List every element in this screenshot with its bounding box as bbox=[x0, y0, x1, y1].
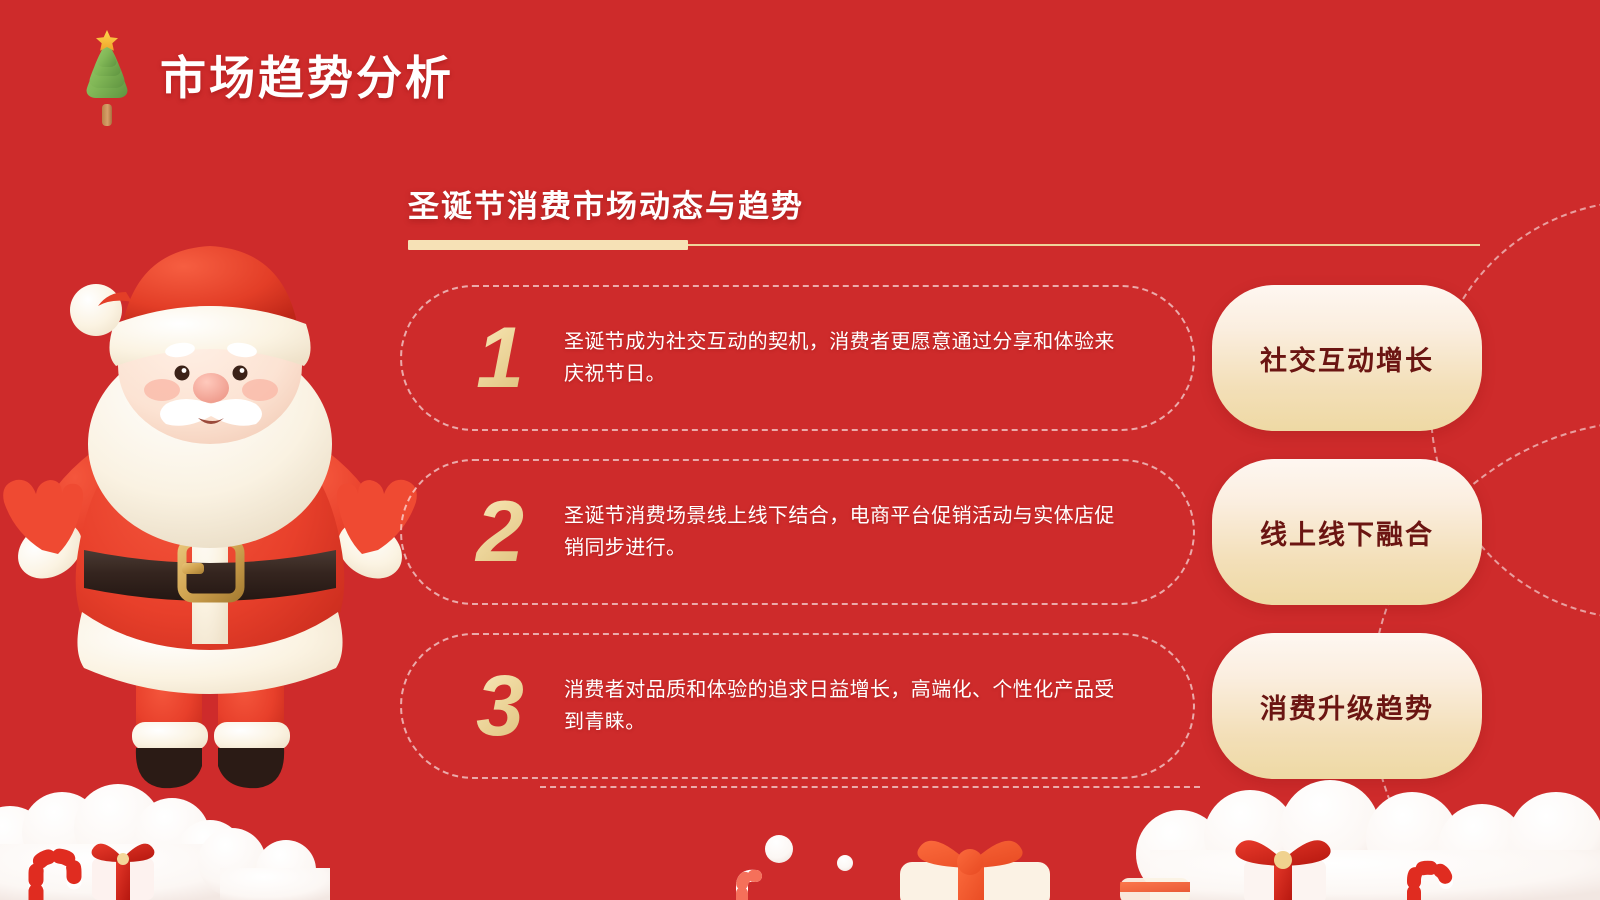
trend-card[interactable]: 3 消费者对品质和体验的追求日益增长，高端化、个性化产品受到青睐。 bbox=[400, 633, 1195, 779]
item-description: 圣诞节成为社交互动的契机，消费者更愿意通过分享和体验来庆祝节日。 bbox=[564, 326, 1124, 391]
dashed-line-decoration bbox=[540, 786, 1200, 788]
slide-header: 市场趋势分析 bbox=[76, 26, 454, 130]
gift-wrap-far-right bbox=[1120, 878, 1190, 900]
candy-cane-right bbox=[1414, 868, 1446, 900]
status-badge[interactable]: 线上线下融合 bbox=[1212, 459, 1482, 605]
list-item: 3 消费者对品质和体验的追求日益增长，高端化、个性化产品受到青睐。 消费升级趋势 bbox=[400, 633, 1490, 779]
snow-cloud-left bbox=[0, 784, 244, 900]
item-number: 1 bbox=[454, 315, 546, 401]
gift-box-right bbox=[1235, 840, 1330, 900]
snow-cloud-mid bbox=[198, 828, 330, 900]
item-number: 2 bbox=[454, 489, 546, 575]
page-title: 市场趋势分析 bbox=[160, 55, 454, 101]
snowball bbox=[837, 855, 853, 871]
trend-items-list: 1 圣诞节成为社交互动的契机，消费者更愿意通过分享和体验来庆祝节日。 社交互动增… bbox=[400, 285, 1490, 807]
badge-label: 线上线下融合 bbox=[1260, 513, 1434, 552]
candy-cane-left bbox=[36, 856, 74, 900]
badge-label: 社交互动增长 bbox=[1260, 339, 1434, 378]
status-badge[interactable]: 消费升级趋势 bbox=[1212, 633, 1482, 779]
item-number: 3 bbox=[454, 663, 546, 749]
candy-cane-center bbox=[742, 876, 756, 900]
item-description: 圣诞节消费场景线上线下结合，电商平台促销活动与实体店促销同步进行。 bbox=[564, 500, 1124, 565]
section-divider bbox=[408, 240, 1480, 250]
slide-root: 市场趋势分析 圣诞节消费市场动态与趋势 bbox=[0, 0, 1600, 900]
list-item: 2 圣诞节消费场景线上线下结合，电商平台促销活动与实体店促销同步进行。 线上线下… bbox=[400, 459, 1490, 605]
badge-label: 消费升级趋势 bbox=[1260, 687, 1434, 726]
gift-box-center bbox=[900, 841, 1050, 900]
gift-box-left bbox=[92, 844, 155, 900]
christmas-tree-icon bbox=[76, 26, 138, 130]
section-subtitle: 圣诞节消费市场动态与趋势 bbox=[408, 181, 804, 226]
status-badge[interactable]: 社交互动增长 bbox=[1212, 285, 1482, 431]
trend-card[interactable]: 2 圣诞节消费场景线上线下结合，电商平台促销活动与实体店促销同步进行。 bbox=[400, 459, 1195, 605]
trend-card[interactable]: 1 圣诞节成为社交互动的契机，消费者更愿意通过分享和体验来庆祝节日。 bbox=[400, 285, 1195, 431]
snowball bbox=[765, 835, 793, 863]
list-item: 1 圣诞节成为社交互动的契机，消费者更愿意通过分享和体验来庆祝节日。 社交互动增… bbox=[400, 285, 1490, 431]
item-description: 消费者对品质和体验的追求日益增长，高端化、个性化产品受到青睐。 bbox=[564, 674, 1124, 739]
divider-thin-line bbox=[688, 244, 1480, 246]
divider-accent-bar bbox=[408, 240, 688, 250]
